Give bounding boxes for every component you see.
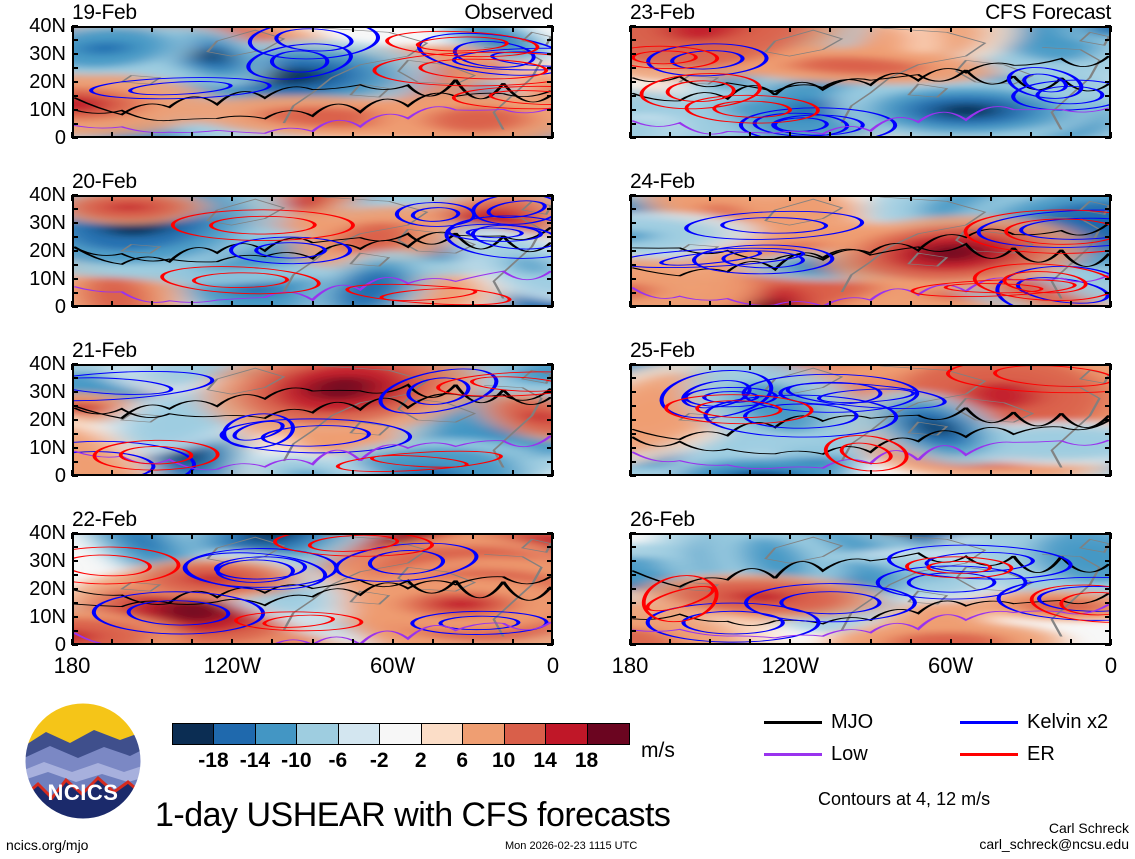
- y-axis-tick-label: 0: [55, 128, 66, 148]
- colorbar-swatch: [380, 724, 421, 744]
- legend-line-swatch: [764, 721, 822, 724]
- y-axis-tick-label: 20N: [29, 72, 66, 92]
- panel-header: 19-FebObserved: [72, 2, 553, 24]
- legend-label: MJO: [831, 712, 873, 732]
- map-panel[interactable]: [72, 533, 553, 645]
- x-axis-tick-label: 0: [547, 655, 559, 677]
- panel-date-label: 25-Feb: [630, 340, 695, 361]
- column-header-label: Observed: [464, 2, 553, 23]
- panel-header: 23-FebCFS Forecast: [630, 2, 1111, 24]
- legend-label: Low: [831, 744, 868, 764]
- y-axis-tick-label: 0: [55, 297, 66, 317]
- shaded-anomaly-field: [74, 197, 551, 305]
- footer-author: Carl Schreck: [979, 820, 1129, 836]
- map-panel[interactable]: [630, 26, 1111, 138]
- x-axis-tick-label: 0: [1105, 655, 1117, 677]
- legend-label: ER: [1027, 744, 1055, 764]
- colorbar-tick-labels: -18-14-10-6-226101418: [172, 750, 628, 774]
- footer-email[interactable]: carl_schreck@ncsu.edu: [979, 836, 1129, 852]
- panel-date-label: 21-Feb: [72, 340, 137, 361]
- y-axis-tick-label: 40N: [29, 354, 66, 374]
- colorbar-unit-label: m/s: [641, 740, 675, 761]
- y-axis-tick-label: 20N: [29, 410, 66, 430]
- y-axis-labels: 40N30N20N10N0: [2, 26, 66, 138]
- shaded-anomaly-field: [632, 535, 1109, 643]
- colorbar-swatch: [173, 724, 214, 744]
- y-axis-tick-label: 10N: [29, 607, 66, 627]
- y-axis-tick-label: 10N: [29, 100, 66, 120]
- shaded-anomaly-field: [74, 28, 551, 136]
- colorbar-tick-label: -6: [328, 750, 347, 771]
- colorbar-swatch: [214, 724, 255, 744]
- colorbar-swatch: [505, 724, 546, 744]
- colorbar-tick-label: 2: [415, 750, 427, 771]
- legend-item-low[interactable]: Low: [764, 744, 868, 764]
- x-axis-tick-label: 120W: [762, 655, 819, 677]
- y-axis-tick-label: 30N: [29, 44, 66, 64]
- colorbar-swatch: [339, 724, 380, 744]
- colorbar-swatch: [422, 724, 463, 744]
- x-axis-tick-label: 60W: [370, 655, 415, 677]
- footer-author-block: Carl Schreck carl_schreck@ncsu.edu: [979, 820, 1129, 852]
- panel-date-label: 22-Feb: [72, 509, 137, 530]
- colorbar-tick-label: -10: [281, 750, 311, 771]
- panel-header: 20-Feb: [72, 171, 553, 193]
- page-title: 1-day USHEAR with CFS forecasts: [155, 798, 670, 832]
- y-axis-tick-label: 0: [55, 466, 66, 486]
- legend-label: Kelvin x2: [1027, 712, 1108, 732]
- x-axis-tick-label: 180: [612, 655, 649, 677]
- y-axis-tick-label: 20N: [29, 241, 66, 261]
- y-axis-tick-label: 30N: [29, 213, 66, 233]
- y-axis-tick-label: 40N: [29, 523, 66, 543]
- panel-header: 21-Feb: [72, 340, 553, 362]
- footer-timestamp: Mon 2026-02-23 1115 UTC: [505, 841, 637, 852]
- shaded-anomaly-field: [74, 535, 551, 643]
- panel-header: 22-Feb: [72, 509, 553, 531]
- y-axis-tick-label: 10N: [29, 438, 66, 458]
- map-panel[interactable]: [72, 364, 553, 476]
- panel-date-label: 26-Feb: [630, 509, 695, 530]
- colorbar-tick-label: -18: [198, 750, 228, 771]
- x-axis-tick-label: 60W: [928, 655, 973, 677]
- panel-date-label: 19-Feb: [72, 2, 137, 23]
- ncics-logo: NCICS: [24, 702, 142, 820]
- shaded-anomaly-field: [632, 28, 1109, 136]
- contour-note: Contours at 4, 12 m/s: [818, 790, 990, 808]
- colorbar-swatch: [297, 724, 338, 744]
- y-axis-tick-label: 10N: [29, 269, 66, 289]
- colorbar-swatch: [588, 724, 629, 744]
- column-header-label: CFS Forecast: [985, 2, 1111, 23]
- colorbar-swatch: [256, 724, 297, 744]
- colorbar: [172, 723, 630, 745]
- panel-date-label: 23-Feb: [630, 2, 695, 23]
- y-axis-tick-label: 40N: [29, 185, 66, 205]
- panel-header: 26-Feb: [630, 509, 1111, 531]
- shaded-anomaly-field: [632, 366, 1109, 474]
- legend-item-er[interactable]: ER: [960, 744, 1055, 764]
- panel-header: 25-Feb: [630, 340, 1111, 362]
- y-axis-tick-label: 20N: [29, 579, 66, 599]
- colorbar-tick-label: 10: [492, 750, 515, 771]
- y-axis-tick-label: 30N: [29, 551, 66, 571]
- legend-item-mjo[interactable]: MJO: [764, 712, 873, 732]
- colorbar-tick-label: 6: [456, 750, 468, 771]
- panel-header: 24-Feb: [630, 171, 1111, 193]
- colorbar-swatch: [546, 724, 587, 744]
- colorbar-tick-label: 14: [533, 750, 556, 771]
- map-panel[interactable]: [630, 533, 1111, 645]
- y-axis-labels: 40N30N20N10N0: [2, 195, 66, 307]
- map-panel[interactable]: [630, 364, 1111, 476]
- panel-date-label: 20-Feb: [72, 171, 137, 192]
- legend-line-swatch: [764, 753, 822, 756]
- contour-legend: MJOKelvin x2LowER: [764, 712, 1124, 772]
- map-panel[interactable]: [72, 195, 553, 307]
- y-axis-labels: 40N30N20N10N0: [2, 533, 66, 645]
- shaded-anomaly-field: [632, 197, 1109, 305]
- x-axis-tick-label: 180: [54, 655, 91, 677]
- x-axis-tick-label: 120W: [204, 655, 261, 677]
- y-axis-tick-label: 40N: [29, 16, 66, 36]
- colorbar-tick-label: -14: [240, 750, 270, 771]
- map-panel[interactable]: [72, 26, 553, 138]
- colorbar-swatch: [463, 724, 504, 744]
- colorbar-tick-label: -2: [370, 750, 389, 771]
- logo-label: NCICS: [24, 780, 142, 806]
- y-axis-labels: 40N30N20N10N0: [2, 364, 66, 476]
- legend-item-kelvin-x2[interactable]: Kelvin x2: [960, 712, 1108, 732]
- y-axis-tick-label: 0: [55, 635, 66, 655]
- shaded-anomaly-field: [74, 366, 551, 474]
- map-panel[interactable]: [630, 195, 1111, 307]
- y-axis-tick-label: 30N: [29, 382, 66, 402]
- panel-date-label: 24-Feb: [630, 171, 695, 192]
- legend-line-swatch: [960, 753, 1018, 756]
- colorbar-tick-label: 18: [575, 750, 598, 771]
- legend-line-swatch: [960, 721, 1018, 724]
- footer-website[interactable]: ncics.org/mjo: [6, 838, 88, 852]
